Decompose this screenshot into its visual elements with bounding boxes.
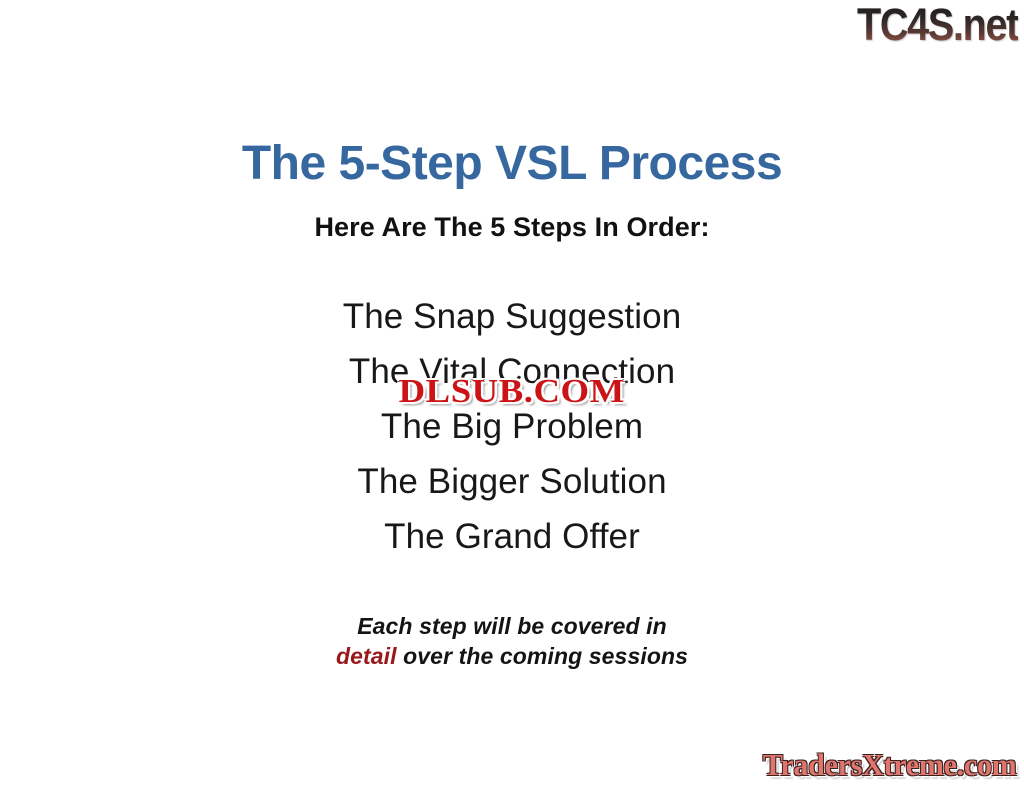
tc4s-logo: TC4S.net	[857, 1, 1018, 49]
list-item: The Big Problem	[0, 399, 1024, 454]
list-item: The Grand Offer	[0, 509, 1024, 564]
footer-line-1: Each step will be covered in	[0, 611, 1024, 641]
footer-line-2-rest: over the coming sessions	[397, 643, 688, 669]
list-item: The Vital Connection	[0, 344, 1024, 399]
footer-note: Each step will be covered in detail over…	[0, 611, 1024, 671]
list-item: The Snap Suggestion	[0, 289, 1024, 344]
list-item: The Bigger Solution	[0, 454, 1024, 509]
page-title: The 5-Step VSL Process	[0, 135, 1024, 193]
steps-list: The Snap Suggestion The Vital Connection…	[0, 289, 1024, 564]
footer-line-2: detail over the coming sessions	[0, 641, 1024, 671]
footer-highlight-word: detail	[336, 643, 397, 669]
tradersxtreme-logo: TradersXtreme.com	[762, 747, 1016, 783]
slide-subtitle: Here Are The 5 Steps In Order:	[0, 210, 1024, 244]
slide-canvas: TC4S.net The 5-Step VSL Process Here Are…	[0, 0, 1024, 791]
